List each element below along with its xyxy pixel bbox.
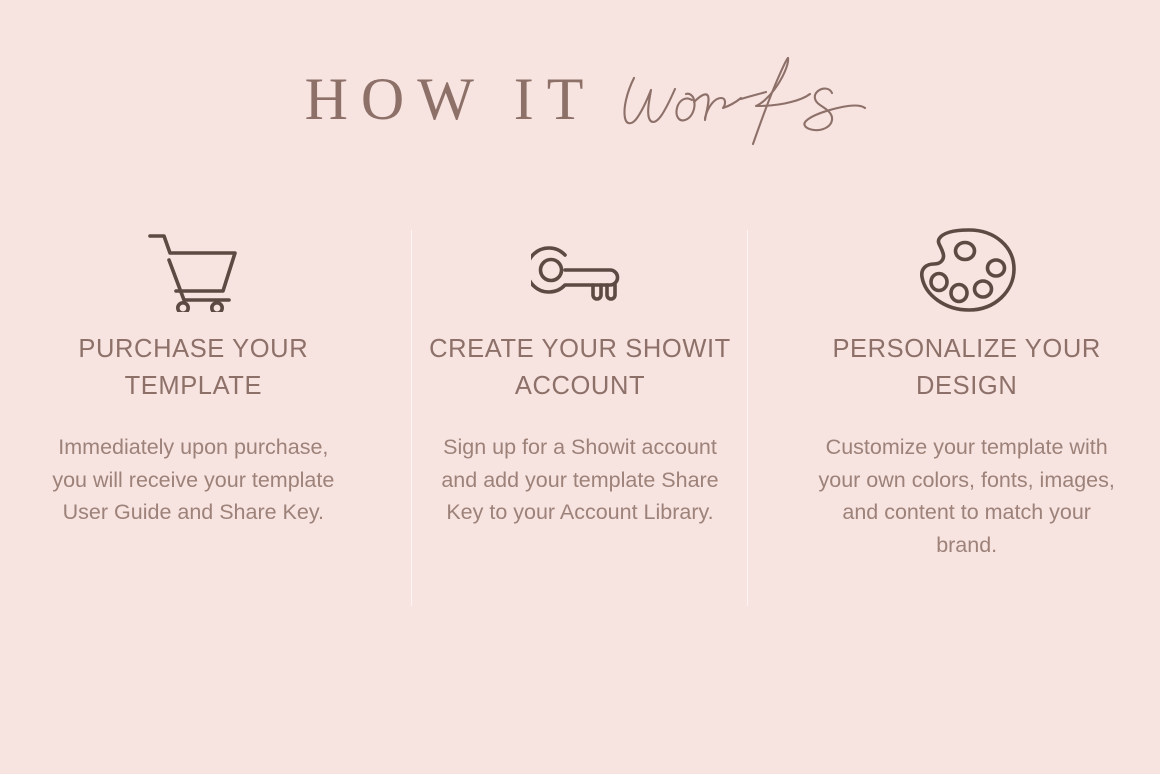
- shopping-cart-icon: [147, 215, 239, 325]
- step-title: PURCHASE YOUR TEMPLATE: [28, 331, 358, 405]
- step-column-create-account: CREATE YOUR SHOWIT ACCOUNT Sign up for a…: [387, 215, 774, 635]
- paint-palette-icon: [917, 215, 1017, 325]
- step-column-personalize: PERSONALIZE YOUR DESIGN Customize your t…: [773, 215, 1160, 635]
- heading-serif-text: HOW IT: [292, 69, 597, 129]
- step-column-purchase: PURCHASE YOUR TEMPLATE Immediately upon …: [0, 215, 387, 635]
- key-icon: [531, 215, 629, 325]
- step-description: Sign up for a Showit account and add you…: [435, 431, 725, 529]
- step-description: Immediately upon purchase, you will rece…: [43, 431, 343, 529]
- section-heading: HOW IT: [0, 0, 1160, 210]
- heading-inner: HOW IT: [292, 50, 869, 148]
- steps-columns: PURCHASE YOUR TEMPLATE Immediately upon …: [0, 215, 1160, 635]
- step-title: CREATE YOUR SHOWIT ACCOUNT: [415, 331, 745, 405]
- step-title: PERSONALIZE YOUR DESIGN: [802, 331, 1132, 405]
- step-description: Customize your template with your own co…: [812, 431, 1122, 562]
- heading-script-text: [620, 52, 868, 148]
